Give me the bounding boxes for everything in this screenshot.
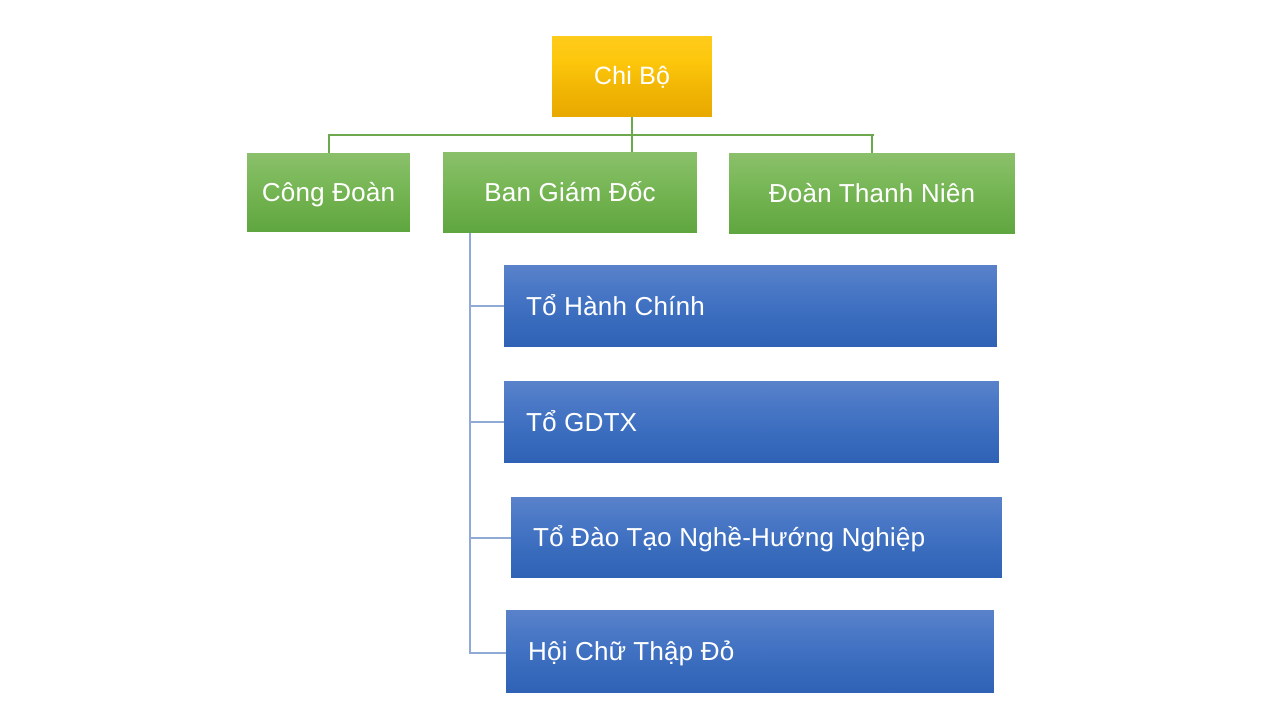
node-to-gdtx[interactable]: Tổ GDTX <box>504 381 999 463</box>
node-doan-thanh-nien-label: Đoàn Thanh Niên <box>769 178 975 209</box>
node-cong-doan-label: Công Đoàn <box>262 177 395 208</box>
node-chi-bo-label: Chi Bộ <box>594 62 670 91</box>
node-ban-giam-doc-label: Ban Giám Đốc <box>484 177 655 208</box>
node-to-gdtx-label: Tổ GDTX <box>504 407 637 438</box>
connector-to-to-dao-tao-nghe <box>469 537 512 539</box>
connector-to-doan-thanh-nien <box>871 134 873 154</box>
connector-to-to-hanh-chinh <box>469 305 505 307</box>
connector-to-cong-doan <box>328 134 330 154</box>
org-chart-canvas: Chi Bộ Công Đoàn Ban Giám Đốc Đoàn Thanh… <box>0 0 1280 720</box>
node-to-dao-tao-nghe[interactable]: Tổ Đào Tạo Nghề-Hướng Nghiệp <box>511 497 1002 578</box>
node-chi-bo[interactable]: Chi Bộ <box>552 36 712 117</box>
node-to-dao-tao-nghe-label: Tổ Đào Tạo Nghề-Hướng Nghiệp <box>511 522 925 553</box>
connector-blue-trunk <box>469 233 471 654</box>
node-ban-giam-doc[interactable]: Ban Giám Đốc <box>443 152 697 233</box>
node-hoi-chu-thap-do[interactable]: Hội Chữ Thập Đỏ <box>506 610 994 693</box>
connector-root-bus <box>328 134 874 136</box>
node-to-hanh-chinh-label: Tổ Hành Chính <box>504 291 705 322</box>
connector-to-to-gdtx <box>469 421 505 423</box>
node-cong-doan[interactable]: Công Đoàn <box>247 153 410 232</box>
node-to-hanh-chinh[interactable]: Tổ Hành Chính <box>504 265 997 347</box>
node-hoi-chu-thap-do-label: Hội Chữ Thập Đỏ <box>506 636 734 667</box>
connector-root-stem <box>631 117 633 135</box>
connector-to-hoi-chu-thap-do <box>469 652 507 654</box>
node-doan-thanh-nien[interactable]: Đoàn Thanh Niên <box>729 153 1015 234</box>
connector-to-ban-giam-doc <box>631 134 633 154</box>
